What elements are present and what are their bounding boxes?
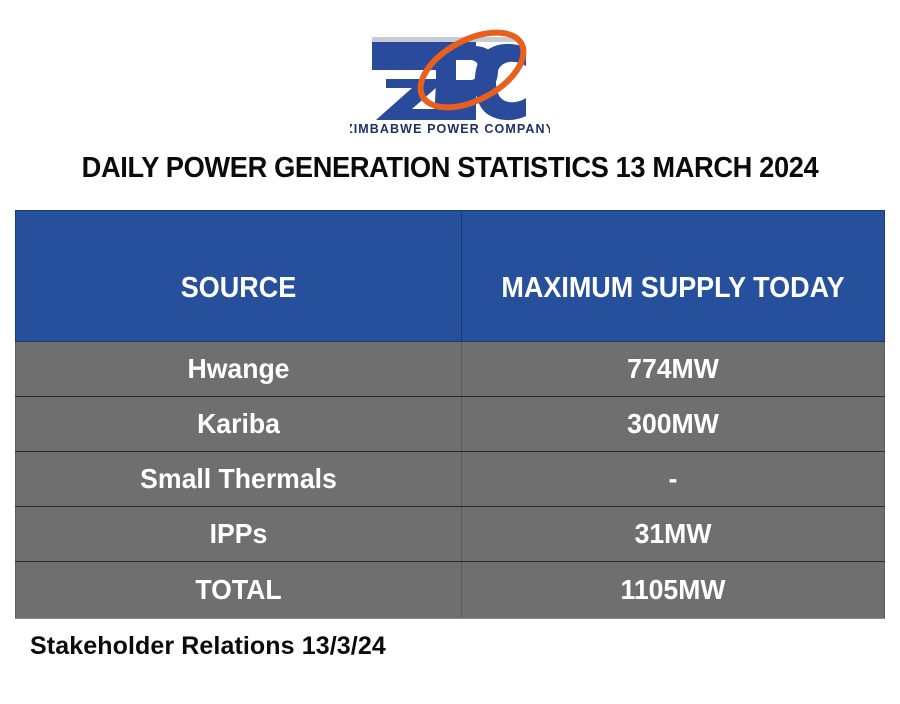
cell-supply: 300MW [462, 397, 885, 452]
page-title: DAILY POWER GENERATION STATISTICS 13 MAR… [27, 152, 873, 185]
statistics-table-container: SOURCE MAXIMUM SUPPLY TODAY Hwange 774MW… [15, 210, 884, 619]
cell-source-total: TOTAL [16, 562, 462, 619]
cell-supply-total-label: 1105MW [473, 574, 874, 606]
cell-supply-label: 300MW [473, 408, 874, 440]
cell-supply: - [462, 452, 885, 507]
cell-supply-total: 1105MW [462, 562, 885, 619]
cell-source-label: Kariba [27, 408, 450, 440]
table-row: IPPs 31MW [16, 507, 885, 562]
statistics-table: SOURCE MAXIMUM SUPPLY TODAY Hwange 774MW… [15, 210, 885, 619]
logo-block: ZIMBABWE POWER COMPANY [0, 0, 900, 146]
cell-source-label: Small Thermals [27, 463, 450, 495]
cell-source-label: IPPs [27, 518, 450, 550]
zpc-logo: ZIMBABWE POWER COMPANY [350, 8, 550, 138]
table-header: SOURCE MAXIMUM SUPPLY TODAY [16, 211, 885, 342]
cell-source: Small Thermals [16, 452, 462, 507]
cell-source: Hwange [16, 342, 462, 397]
cell-supply: 774MW [462, 342, 885, 397]
table-row-total: TOTAL 1105MW [16, 562, 885, 619]
table-row: Kariba 300MW [16, 397, 885, 452]
cell-source: Kariba [16, 397, 462, 452]
table-row: Small Thermals - [16, 452, 885, 507]
column-header-source: SOURCE [16, 211, 462, 342]
cell-supply: 31MW [462, 507, 885, 562]
logo-gray-bar [372, 37, 520, 42]
column-header-max-supply-label: MAXIMUM SUPPLY TODAY [477, 272, 869, 305]
footer-attribution: Stakeholder Relations 13/3/24 [30, 632, 386, 661]
cell-source: IPPs [16, 507, 462, 562]
cell-source-total-label: TOTAL [27, 574, 450, 606]
table-body: Hwange 774MW Kariba 300MW Small Thermals [16, 342, 885, 619]
cell-supply-label: 774MW [473, 353, 874, 385]
cell-source-label: Hwange [27, 353, 450, 385]
zpc-logo-graphic: ZIMBABWE POWER COMPANY [350, 8, 550, 138]
column-header-max-supply: MAXIMUM SUPPLY TODAY [462, 211, 885, 342]
cell-supply-label: 31MW [473, 518, 874, 550]
table-row: Hwange 774MW [16, 342, 885, 397]
logo-letter-c [475, 44, 526, 120]
column-header-source-label: SOURCE [32, 272, 446, 305]
table-header-row: SOURCE MAXIMUM SUPPLY TODAY [16, 211, 885, 342]
logo-tagline: ZIMBABWE POWER COMPANY [350, 122, 550, 136]
cell-supply-label: - [473, 463, 874, 495]
